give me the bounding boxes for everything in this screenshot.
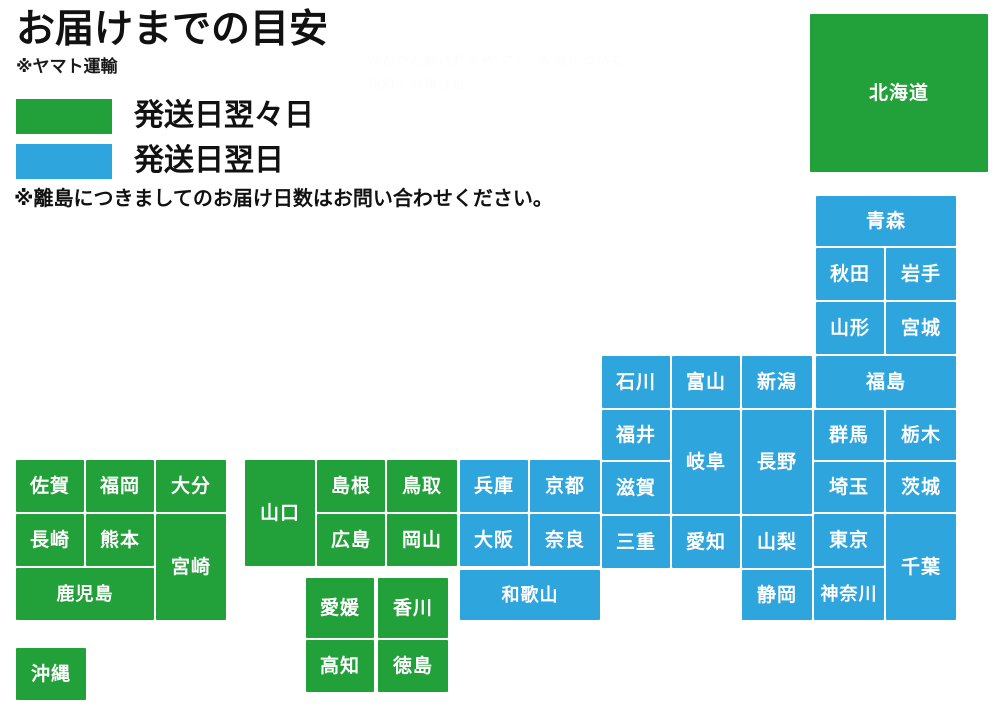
prefecture-cell[interactable]: 島根 bbox=[317, 460, 385, 512]
prefecture-cell[interactable]: 新潟 bbox=[742, 356, 812, 408]
legend-swatch-blue bbox=[16, 144, 112, 179]
prefecture-cell[interactable]: 愛知 bbox=[672, 516, 740, 568]
prefecture-cell[interactable]: 徳島 bbox=[378, 640, 448, 692]
prefecture-cell[interactable]: 石川 bbox=[602, 356, 670, 408]
prefecture-cell[interactable]: 秋田 bbox=[816, 248, 884, 300]
prefecture-cell[interactable]: 山形 bbox=[816, 302, 884, 354]
prefecture-cell[interactable]: 栃木 bbox=[886, 410, 956, 460]
legend-label-next-day: 発送日翌日 bbox=[134, 140, 284, 182]
prefecture-cell[interactable]: 静岡 bbox=[742, 570, 812, 620]
prefecture-cell[interactable]: 沖縄 bbox=[16, 648, 86, 700]
prefecture-cell[interactable]: 宮崎 bbox=[156, 514, 226, 620]
prefecture-cell[interactable]: 山口 bbox=[245, 460, 315, 566]
prefecture-cell[interactable]: 佐賀 bbox=[16, 460, 84, 512]
prefecture-cell[interactable]: 岐阜 bbox=[672, 410, 740, 514]
prefecture-cell[interactable]: 広島 bbox=[317, 514, 385, 566]
prefecture-cell[interactable]: 福岡 bbox=[86, 460, 154, 512]
prefecture-cell[interactable]: 奈良 bbox=[530, 514, 600, 566]
watermark-text: 配送について bbox=[540, 50, 624, 69]
prefecture-cell[interactable]: 三重 bbox=[602, 516, 670, 568]
prefecture-cell[interactable]: 北海道 bbox=[810, 14, 988, 172]
prefecture-cell[interactable]: 岡山 bbox=[387, 514, 457, 566]
prefecture-cell[interactable]: 鳥取 bbox=[387, 460, 457, 512]
prefecture-cell[interactable]: 群馬 bbox=[814, 410, 884, 460]
prefecture-cell[interactable]: 愛媛 bbox=[306, 578, 374, 638]
prefecture-cell[interactable]: 和歌山 bbox=[460, 570, 600, 620]
prefecture-cell[interactable]: 富山 bbox=[672, 356, 740, 408]
delivery-map-page: お届けまでの目安 ※ヤマト運輸 発送日翌々日 発送日翌日 ※離島につきましてのお… bbox=[0, 0, 1000, 708]
prefecture-cell[interactable]: 長野 bbox=[742, 410, 812, 514]
prefecture-cell[interactable]: 山梨 bbox=[742, 516, 812, 568]
watermark-text: 送料・お届け日 bbox=[368, 74, 466, 93]
prefecture-cell[interactable]: 鹿児島 bbox=[16, 568, 154, 620]
legend-item-two-days: 発送日翌々日 bbox=[16, 96, 436, 136]
watermark-text: かんたん発送ガイド bbox=[368, 50, 494, 69]
remote-islands-note: ※離島につきましてのお届け日数はお問い合わせください。 bbox=[14, 186, 553, 212]
prefecture-cell[interactable]: 大阪 bbox=[460, 514, 528, 566]
legend-label-two-days: 発送日翌々日 bbox=[134, 95, 314, 137]
prefecture-cell[interactable]: 京都 bbox=[530, 460, 600, 512]
prefecture-cell[interactable]: 高知 bbox=[306, 640, 374, 692]
prefecture-cell[interactable]: 熊本 bbox=[86, 514, 154, 566]
prefecture-cell[interactable]: 茨城 bbox=[886, 462, 956, 512]
legend-swatch-green bbox=[16, 99, 112, 134]
prefecture-cell[interactable]: 香川 bbox=[378, 578, 448, 638]
prefecture-cell[interactable]: 東京 bbox=[814, 514, 884, 566]
prefecture-cell[interactable]: 兵庫 bbox=[460, 460, 528, 512]
prefecture-cell[interactable]: 滋賀 bbox=[602, 462, 670, 514]
prefecture-cell[interactable]: 宮城 bbox=[886, 302, 956, 354]
legend-item-next-day: 発送日翌日 bbox=[16, 141, 436, 181]
page-title: お届けまでの目安 bbox=[16, 8, 328, 52]
prefecture-cell[interactable]: 福島 bbox=[816, 356, 956, 408]
prefecture-cell[interactable]: 福井 bbox=[602, 410, 670, 460]
prefecture-cell[interactable]: 埼玉 bbox=[814, 462, 884, 512]
prefecture-cell[interactable]: 岩手 bbox=[886, 248, 956, 300]
carrier-note: ※ヤマト運輸 bbox=[16, 57, 118, 77]
prefecture-cell[interactable]: 神奈川 bbox=[814, 568, 884, 620]
prefecture-cell[interactable]: 大分 bbox=[156, 460, 226, 512]
watermark-text: ヤマト bbox=[486, 50, 528, 69]
prefecture-cell[interactable]: 千葉 bbox=[886, 514, 956, 620]
prefecture-cell[interactable]: 青森 bbox=[816, 196, 956, 246]
prefecture-cell[interactable]: 長崎 bbox=[16, 514, 84, 566]
